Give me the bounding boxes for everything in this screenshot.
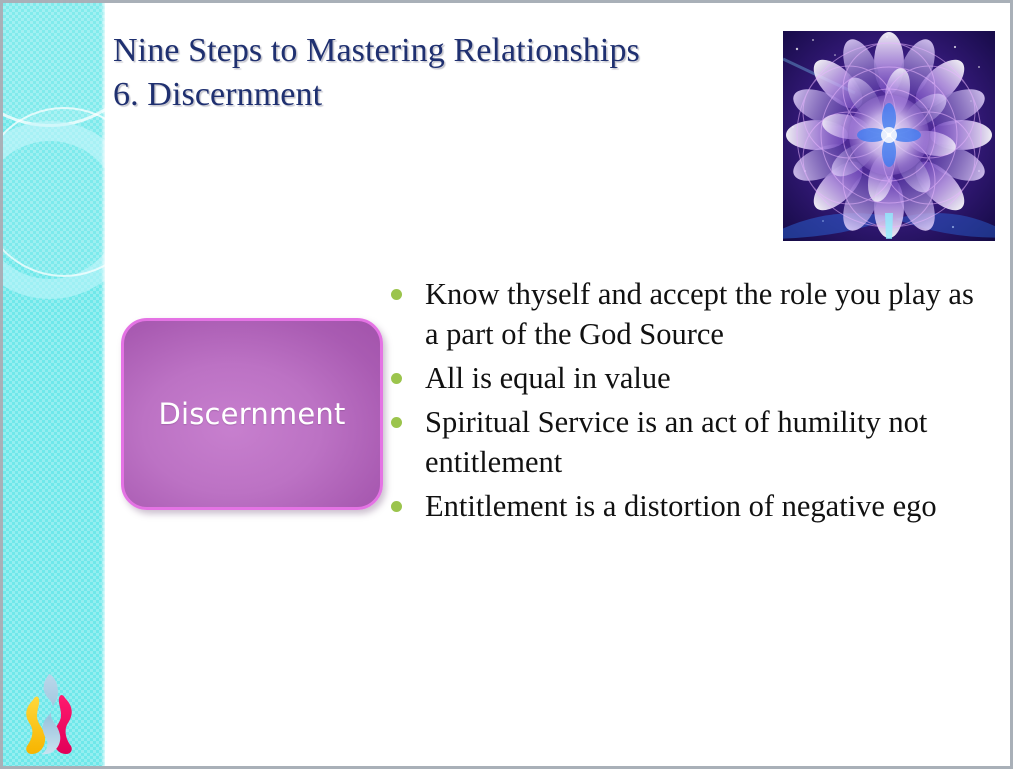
list-item: Spiritual Service is an act of humility … (391, 403, 991, 483)
list-item: Entitlement is a distortion of negative … (391, 487, 991, 527)
decorative-sidebar (3, 3, 105, 766)
list-item: All is equal in value (391, 359, 991, 399)
bullet-dot-icon (391, 501, 402, 512)
slide-title: Nine Steps to Mastering Relationships 6.… (113, 29, 763, 117)
bullet-dot-icon (391, 373, 402, 384)
callout-label: Discernment (158, 397, 345, 431)
circle-ring-inner-icon (3, 107, 105, 277)
flame-logo-icon (13, 666, 85, 758)
list-item: Know thyself and accept the role you pla… (391, 275, 991, 355)
bullet-list: Know thyself and accept the role you pla… (391, 275, 991, 531)
mandala-image (783, 31, 995, 241)
list-item-text: Entitlement is a distortion of negative … (425, 487, 991, 527)
slide: Nine Steps to Mastering Relationships 6.… (0, 0, 1013, 769)
discernment-callout-box[interactable]: Discernment (121, 318, 383, 510)
sidebar-edge-highlight (101, 3, 105, 766)
list-item-text: All is equal in value (425, 359, 991, 399)
list-item-text: Know thyself and accept the role you pla… (425, 275, 991, 355)
slide-title-line1: Nine Steps to Mastering Relationships (113, 32, 640, 69)
list-item-text: Spiritual Service is an act of humility … (425, 403, 991, 483)
slide-title-line2: 6. Discernment (113, 73, 763, 117)
bullet-dot-icon (391, 289, 402, 300)
bullet-dot-icon (391, 417, 402, 428)
